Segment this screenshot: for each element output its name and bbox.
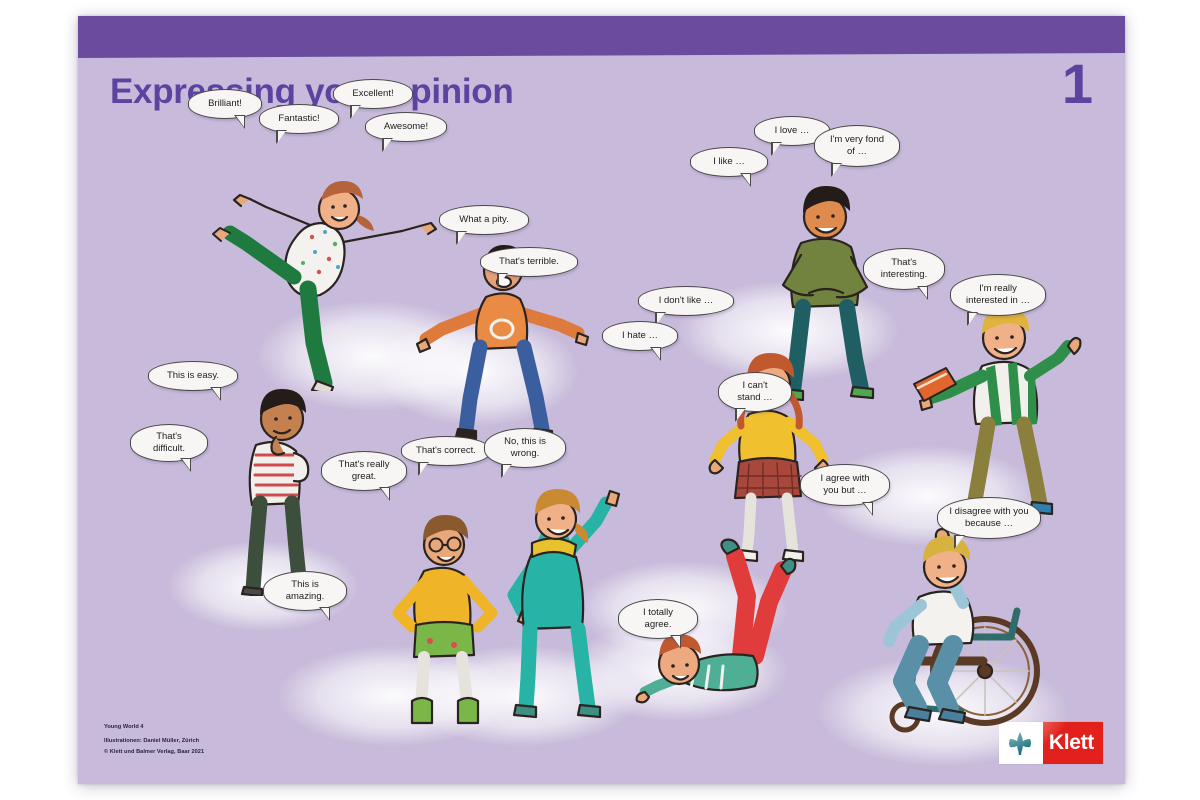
bubble-tail (379, 487, 390, 501)
poster-header-band (78, 16, 1125, 58)
bubble-tail (497, 273, 508, 287)
screenshot-canvas: Expressing your opinion 1 (0, 0, 1200, 800)
speech-bubble-i-dont-like[interactable]: I don't like … (638, 286, 734, 316)
bubble-text: I love … (775, 125, 810, 137)
credits-block: Young World 4 Illustrationen: Daniel Mül… (104, 722, 204, 758)
bubble-text: I don't like … (659, 295, 714, 307)
bubble-text: This is easy. (167, 370, 219, 382)
speech-bubble-what-a-pity[interactable]: What a pity. (439, 205, 529, 235)
character-thinking-boy (198, 381, 348, 596)
speech-bubble-awesome[interactable]: Awesome! (365, 112, 447, 142)
bubble-tail (917, 286, 928, 300)
bubble-text: I like … (713, 156, 745, 168)
bubble-tail (967, 312, 978, 326)
bubble-text: I'm very fond of … (826, 134, 888, 158)
bubble-text: Fantastic! (278, 113, 319, 125)
bubble-text: I'm really interested in … (962, 283, 1034, 307)
speech-bubble-i-totally-agree[interactable]: I totally agree. (618, 599, 698, 639)
character-boy-in-wheelchair (833, 511, 1053, 746)
character-jumping-girl (188, 171, 438, 391)
bubble-tail (276, 130, 287, 144)
bubble-text: That's interesting. (875, 257, 933, 281)
bubble-tail (954, 535, 965, 549)
bubble-tail (234, 115, 245, 129)
bubble-text: This is amazing. (275, 579, 335, 603)
bubble-text: What a pity. (459, 214, 508, 226)
bubble-tail (382, 138, 393, 152)
speech-bubble-thats-really-great[interactable]: That's really great. (321, 451, 407, 491)
speech-bubble-i-cant-stand[interactable]: I can't stand … (718, 372, 792, 412)
speech-bubble-brilliant[interactable]: Brilliant! (188, 89, 262, 119)
speech-bubble-i-hate[interactable]: I hate … (602, 321, 678, 351)
bubble-tail (180, 458, 191, 472)
character-boy-with-book (908, 306, 1088, 521)
bubble-text: That's difficult. (142, 431, 196, 455)
bubble-tail (319, 607, 330, 621)
bubble-tail (650, 347, 661, 361)
bubble-tail (735, 408, 746, 422)
bubble-tail (456, 231, 467, 245)
bubble-tail (210, 387, 221, 401)
bubble-text: That's terrible. (499, 256, 559, 268)
speech-bubble-fantastic[interactable]: Fantastic! (259, 104, 339, 134)
bubble-tail (862, 502, 873, 516)
bubble-text: That's correct. (416, 445, 476, 457)
bubble-text: Excellent! (352, 88, 393, 100)
bubble-tail (831, 163, 842, 177)
bubble-tail (501, 464, 512, 478)
bubble-text: No, this is wrong. (496, 436, 554, 460)
bubble-text: I disagree with you because … (949, 506, 1029, 530)
speech-bubble-thats-terrible[interactable]: That's terrible. (480, 247, 578, 277)
bubble-tail (350, 105, 361, 119)
speech-bubble-excellent[interactable]: Excellent! (333, 79, 413, 109)
speech-bubble-this-is-amazing[interactable]: This is amazing. (263, 571, 347, 611)
credits-line-series: Young World 4 (104, 722, 204, 733)
poster-sheet: Expressing your opinion 1 (78, 16, 1125, 784)
bubble-text: I totally agree. (630, 607, 686, 631)
bubble-text: I can't stand … (730, 380, 780, 404)
bubble-tail (740, 173, 751, 187)
speech-bubble-i-disagree-with-you-because[interactable]: I disagree with you because … (937, 497, 1041, 539)
speech-bubble-im-very-fond-of[interactable]: I'm very fond of … (814, 125, 900, 167)
speech-bubble-i-like[interactable]: I like … (690, 147, 768, 177)
poster-number: 1 (1062, 56, 1093, 112)
speech-bubble-no-this-is-wrong[interactable]: No, this is wrong. (484, 428, 566, 468)
speech-bubble-thats-difficult[interactable]: That's difficult. (130, 424, 208, 462)
speech-bubble-im-really-interested-in[interactable]: I'm really interested in … (950, 274, 1046, 316)
bubble-text: Awesome! (384, 121, 428, 133)
bubble-tail (418, 462, 429, 476)
speech-bubble-this-is-easy[interactable]: This is easy. (148, 361, 238, 391)
credits-line-copyright: © Klett und Balmer Verlag, Baar 2021 (104, 747, 204, 758)
speech-bubble-thats-correct[interactable]: That's correct. (401, 436, 491, 466)
bubble-tail (771, 142, 782, 156)
credits-line-illustrator: Illustrationen: Daniel Müller, Zürich (104, 736, 204, 747)
bubble-text: Brilliant! (208, 98, 242, 110)
bubble-text: That's really great. (333, 459, 395, 483)
bubble-text: I hate … (622, 330, 658, 342)
bubble-tail (670, 635, 681, 649)
speech-bubble-i-agree-with-you-but[interactable]: I agree with you but … (800, 464, 890, 506)
bubble-text: I agree with you but … (812, 473, 878, 497)
speech-bubble-thats-interesting[interactable]: That's interesting. (863, 248, 945, 290)
